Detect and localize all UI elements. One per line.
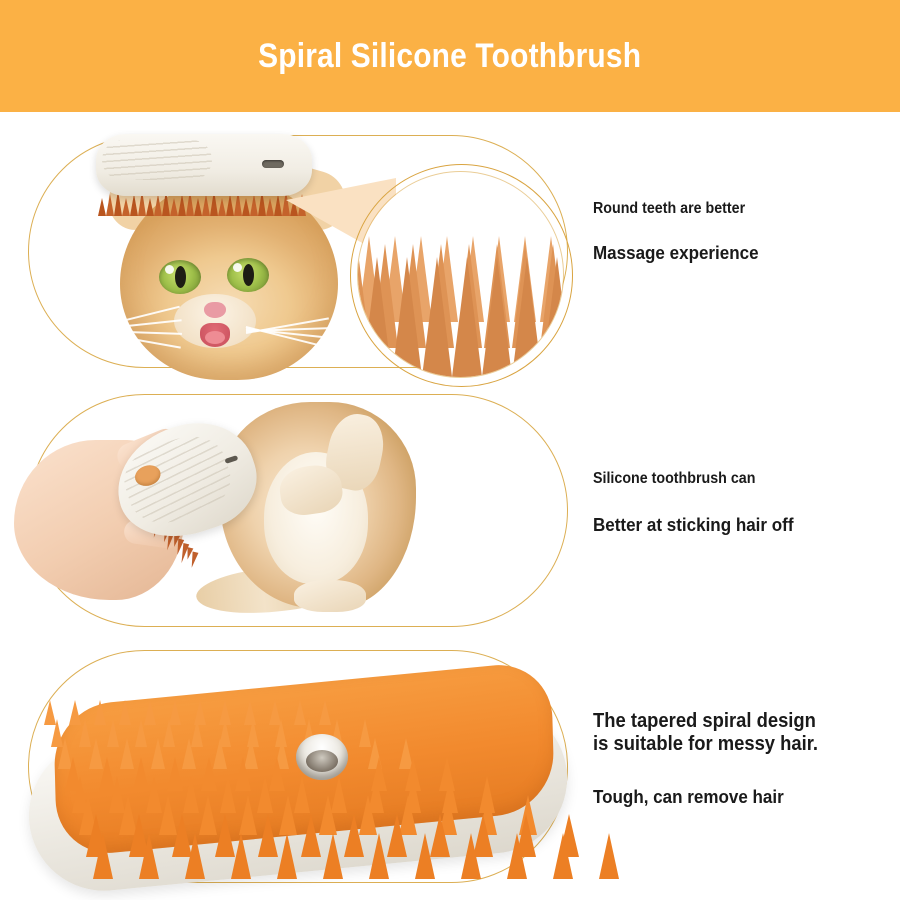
panel-3-line-2: is suitable for messy hair.	[593, 733, 818, 756]
cat-nose	[204, 302, 226, 318]
cat-mouth	[200, 323, 230, 347]
device-ridge-texture	[102, 140, 212, 180]
header-banner: Spiral Silicone Toothbrush	[0, 0, 900, 112]
panel-2-line-1: Silicone toothbrush can	[593, 470, 794, 488]
panel-1-line-1: Round teeth are better	[593, 200, 759, 218]
product-infographic: Spiral Silicone Toothbrush Round teeth a…	[0, 0, 900, 900]
usb-c-port-icon	[224, 455, 238, 464]
cat-paw-rear	[294, 580, 366, 612]
usb-c-port-icon	[262, 160, 284, 168]
grooming-brush-device	[96, 134, 312, 196]
panel-1-illustration	[28, 132, 568, 370]
panel-2-line-2: Better at sticking hair off	[593, 514, 794, 536]
panel-1-copy: Round teeth are better Massage experienc…	[593, 200, 773, 264]
panel-3-copy: The tapered spiral design is suitable fo…	[593, 710, 838, 808]
panel-3-line-1: The tapered spiral design	[593, 710, 818, 733]
panel-2-copy: Silicone toothbrush can Better at sticki…	[593, 470, 811, 536]
panel-1-line-2: Massage experience	[593, 242, 759, 264]
panel-2-illustration	[28, 392, 568, 628]
steam-nozzle-icon	[296, 734, 348, 780]
cat-eye-right	[227, 258, 269, 292]
panel-3-line-3: Tough, can remove hair	[593, 786, 818, 808]
panel-3-illustration	[10, 648, 590, 886]
magnifier-circle	[358, 172, 563, 377]
page-title: Spiral Silicone Toothbrush	[258, 37, 641, 76]
cat-eye-left	[159, 260, 201, 294]
